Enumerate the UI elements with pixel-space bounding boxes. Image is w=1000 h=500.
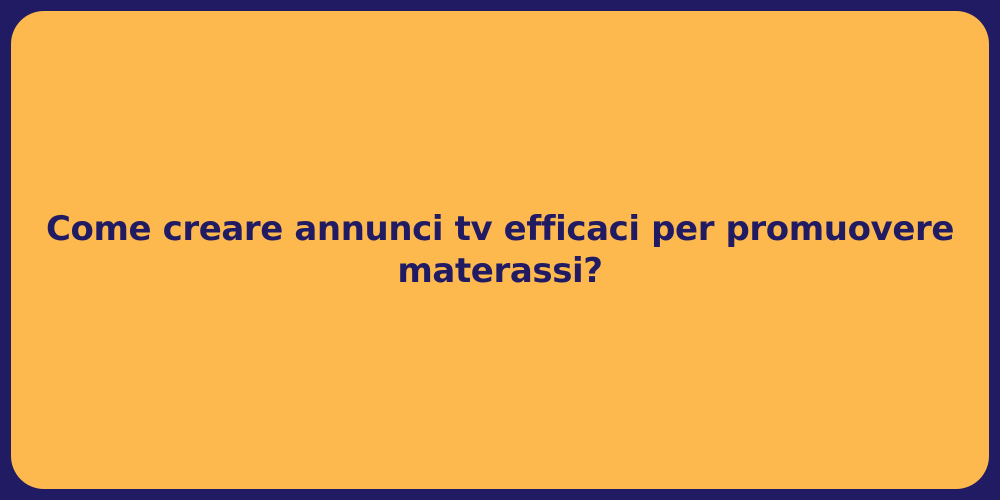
headline-question: Come creare annunci tv efficaci per prom…: [11, 208, 989, 293]
card-frame: Come creare annunci tv efficaci per prom…: [0, 0, 1000, 500]
card-panel: Come creare annunci tv efficaci per prom…: [11, 11, 989, 489]
